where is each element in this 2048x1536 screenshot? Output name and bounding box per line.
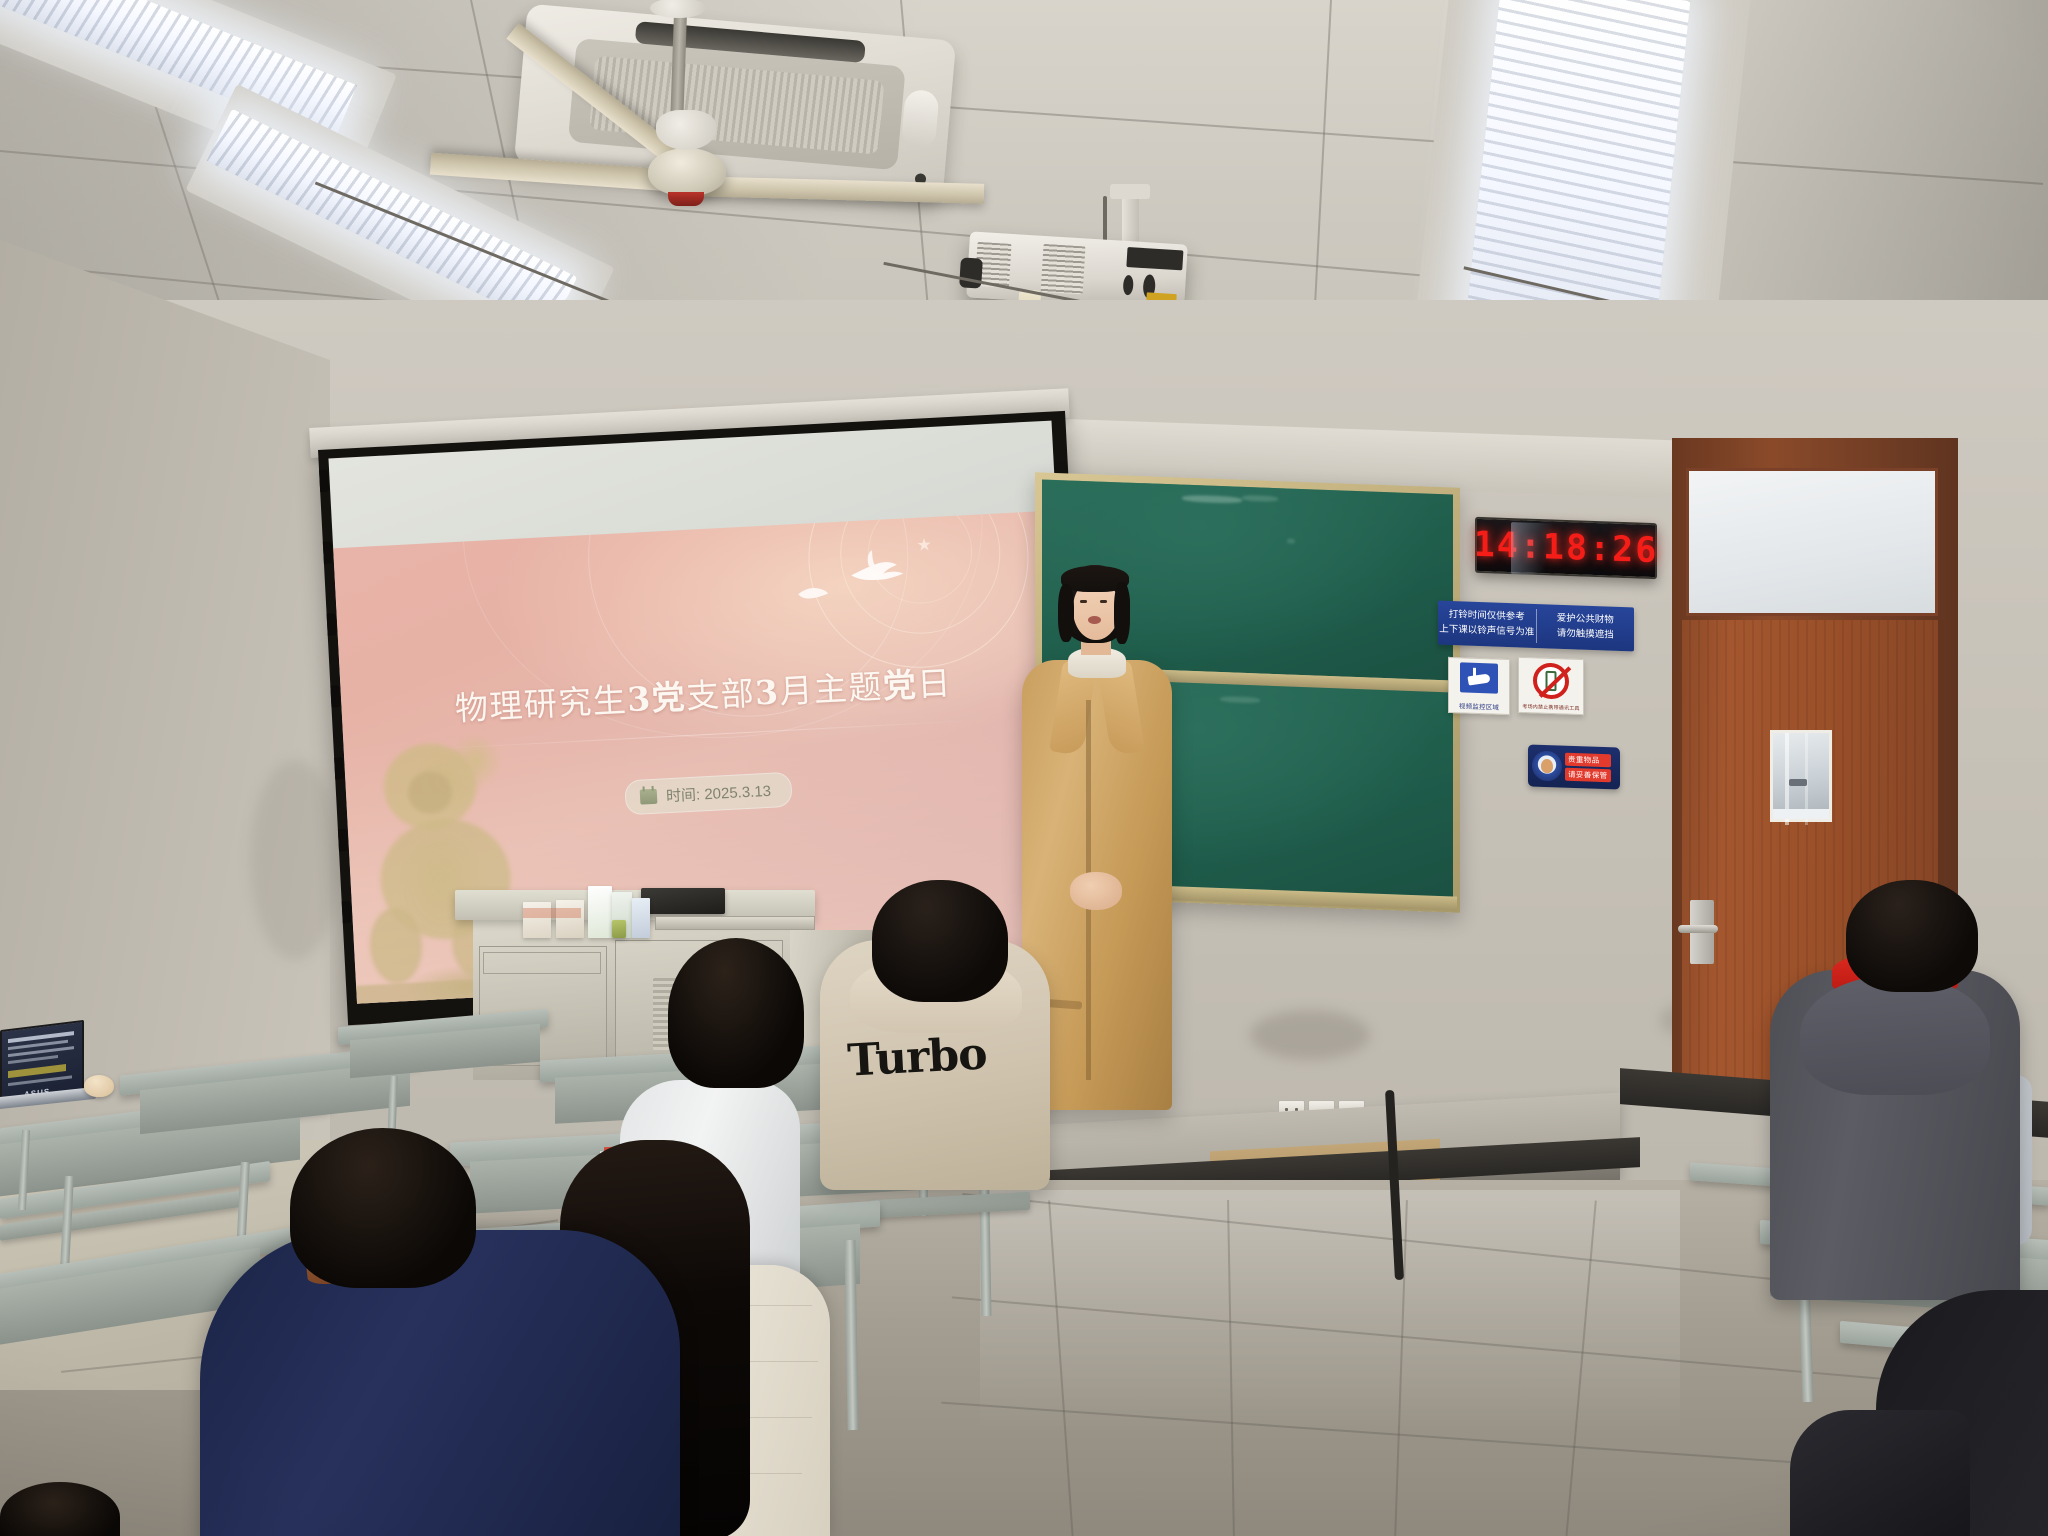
- supply-box: [632, 898, 650, 938]
- ceiling-fan-hub: [648, 148, 726, 196]
- bell-sign-right-line2: 请勿触摸遮挡: [1557, 627, 1614, 644]
- student-head: [668, 938, 804, 1088]
- presenter-hands: [1070, 872, 1122, 910]
- jacket-hood: [1800, 975, 1990, 1095]
- floor-reflection: [980, 1190, 1680, 1536]
- keyboard-tray[interactable]: [655, 916, 815, 930]
- no-phone-sign-caption: 考场内禁止携带通讯工具: [1522, 703, 1579, 712]
- slide-date-text: 时间: 2025.3.13: [665, 780, 771, 806]
- no-mobile-phone-icon: [1533, 662, 1569, 699]
- console-monitor-lid[interactable]: [641, 888, 725, 914]
- surveillance-area-sign: 视频监控区域: [1448, 657, 1510, 715]
- no-phone-sign: 考场内禁止携带通讯工具: [1518, 657, 1584, 715]
- surveillance-sign-caption: 视频监控区域: [1459, 700, 1499, 711]
- valuables-notice-sign: 贵重物品 请妥善保管: [1528, 744, 1620, 789]
- computer-mouse[interactable]: [84, 1075, 114, 1097]
- clock-glare: [1511, 522, 1563, 576]
- police-badge-icon: [1532, 751, 1562, 782]
- supply-box: [588, 886, 612, 938]
- door-transom-window: [1686, 468, 1938, 616]
- console-drawer[interactable]: [483, 952, 601, 974]
- led-wall-clock: 14:18:26: [1475, 517, 1657, 579]
- cctv-camera-icon: [1460, 662, 1498, 693]
- fan-light-cap: [668, 192, 704, 206]
- bell-notice-sign: 打铃时间仅供参考 上下课以铃声信号为准 爱护公共财物 请勿触摸遮挡: [1438, 601, 1634, 652]
- classroom-photo: ★: [0, 0, 2048, 1536]
- calendar-icon: [640, 789, 658, 805]
- clock-time: 14:18:26: [1474, 525, 1659, 571]
- door-handle[interactable]: [1678, 925, 1718, 933]
- supply-bottle: [612, 920, 626, 938]
- dove-icon-large: [844, 548, 910, 593]
- door-viewport-window: [1770, 730, 1832, 822]
- valuables-sign-line2: 请妥善保管: [1565, 768, 1611, 783]
- student-head: [290, 1128, 476, 1288]
- supply-box: [556, 900, 584, 938]
- student-head: [872, 880, 1008, 1002]
- projector-lens: [959, 257, 983, 288]
- dove-icon-small: [796, 580, 831, 604]
- student-head: [1846, 880, 1978, 992]
- projector-mount-plate: [1110, 184, 1150, 199]
- bell-sign-left-line2: 上下课以铃声信号为准: [1439, 623, 1534, 641]
- valuables-sign-line1: 贵重物品: [1565, 753, 1611, 768]
- student-back-row-arm: [1790, 1410, 1970, 1536]
